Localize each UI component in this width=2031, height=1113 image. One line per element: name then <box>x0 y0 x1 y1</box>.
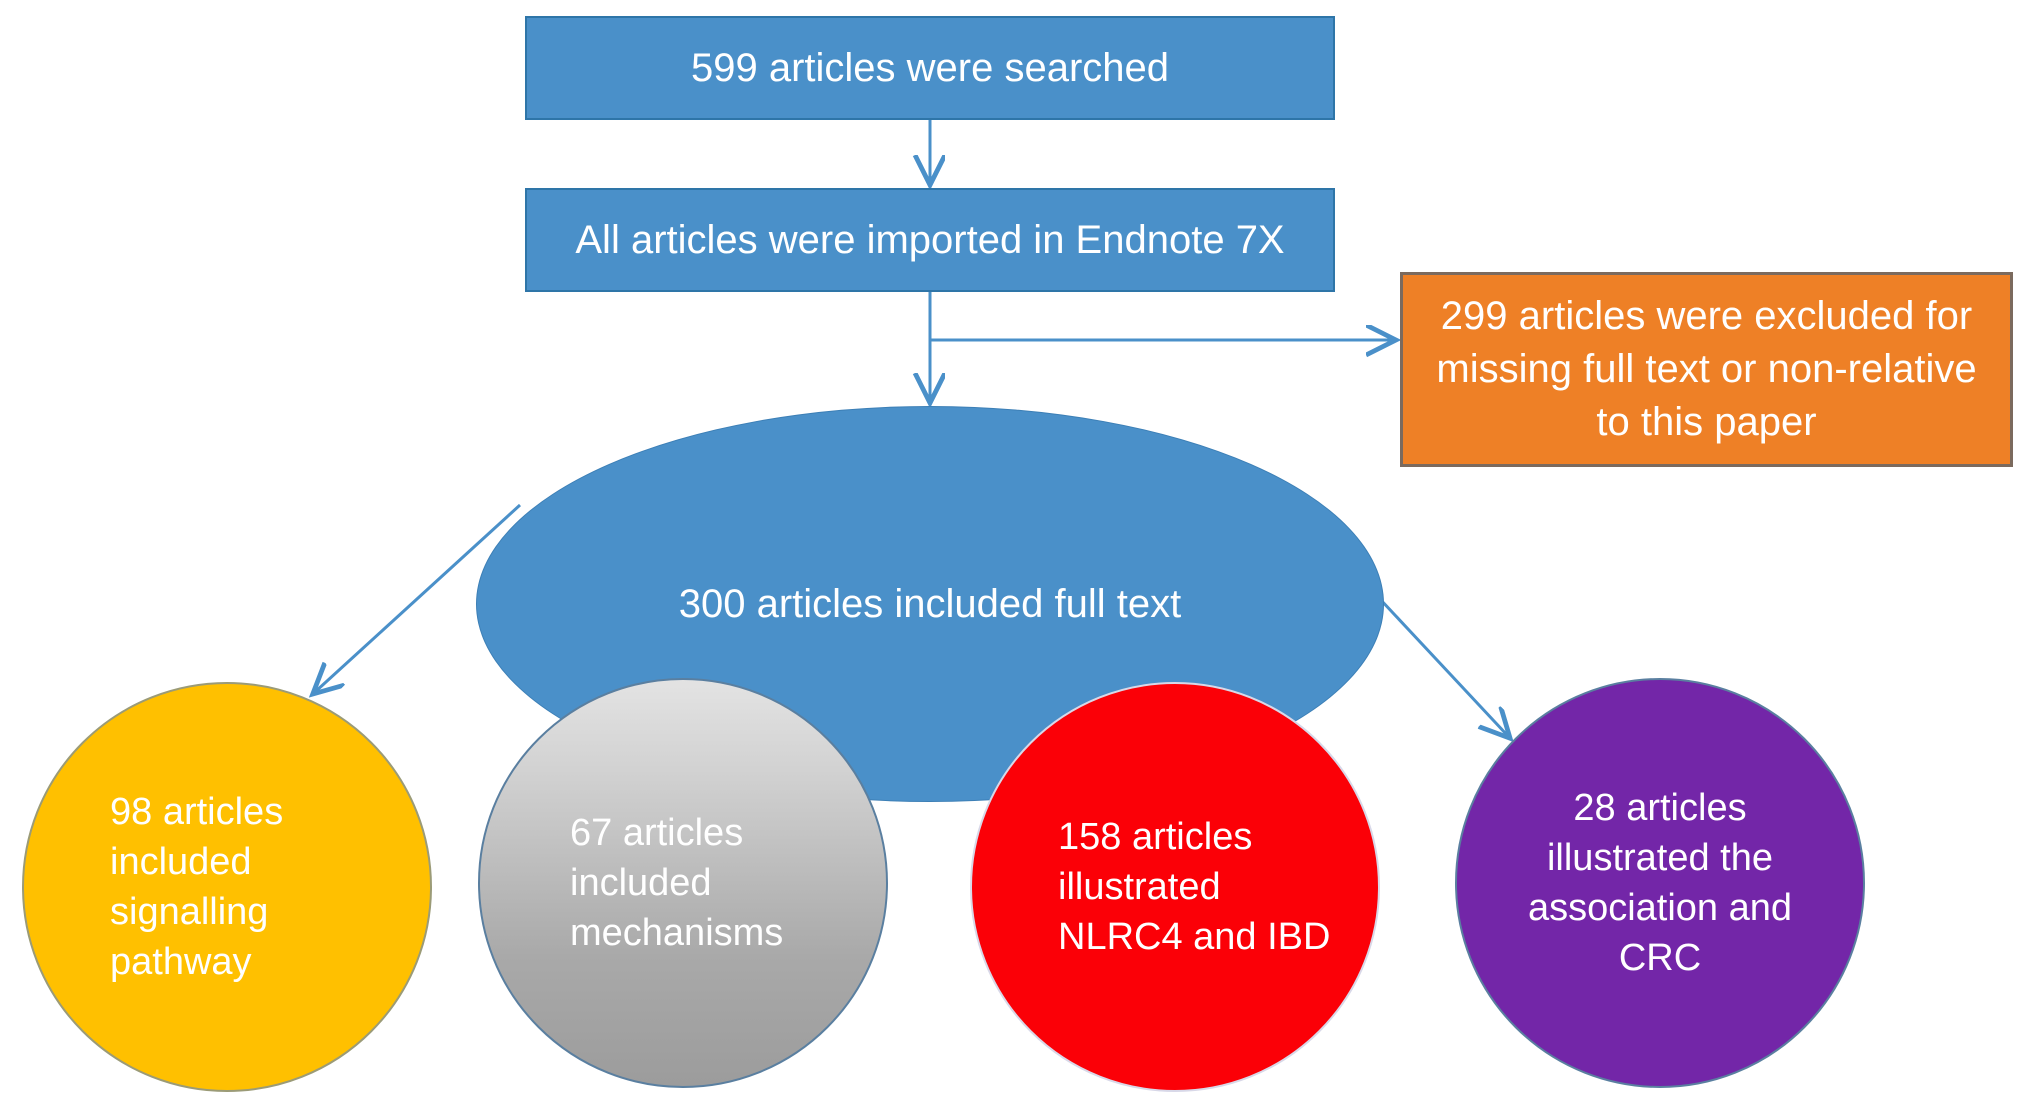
node-association-and-crc[interactable]: 28 articles illustrated the association … <box>1455 678 1865 1088</box>
node-articles-full-text-label: 300 articles included full text <box>477 578 1383 631</box>
node-articles-excluded[interactable]: 299 articles were excluded for missing f… <box>1400 272 2013 467</box>
node-mechanisms-label: 67 articles included mechanisms <box>480 808 886 958</box>
node-articles-excluded-label: 299 articles were excluded for missing f… <box>1419 290 1994 448</box>
node-nlrc4-and-ibd[interactable]: 158 articles illustrated NLRC4 and IBD <box>970 682 1380 1092</box>
node-articles-imported[interactable]: All articles were imported in Endnote 7X <box>525 188 1335 292</box>
node-association-and-crc-label: 28 articles illustrated the association … <box>1457 783 1863 984</box>
node-articles-imported-label: All articles were imported in Endnote 7X <box>527 214 1333 267</box>
flowchart-canvas: 599 articles were searched All articles … <box>0 0 2031 1113</box>
node-signalling-pathway-label: 98 articles included signalling pathway <box>24 787 430 988</box>
node-mechanisms[interactable]: 67 articles included mechanisms <box>478 678 888 1088</box>
node-articles-searched[interactable]: 599 articles were searched <box>525 16 1335 120</box>
node-signalling-pathway[interactable]: 98 articles included signalling pathway <box>22 682 432 1092</box>
node-articles-searched-label: 599 articles were searched <box>527 42 1333 95</box>
node-nlrc4-and-ibd-label: 158 articles illustrated NLRC4 and IBD <box>972 812 1378 962</box>
